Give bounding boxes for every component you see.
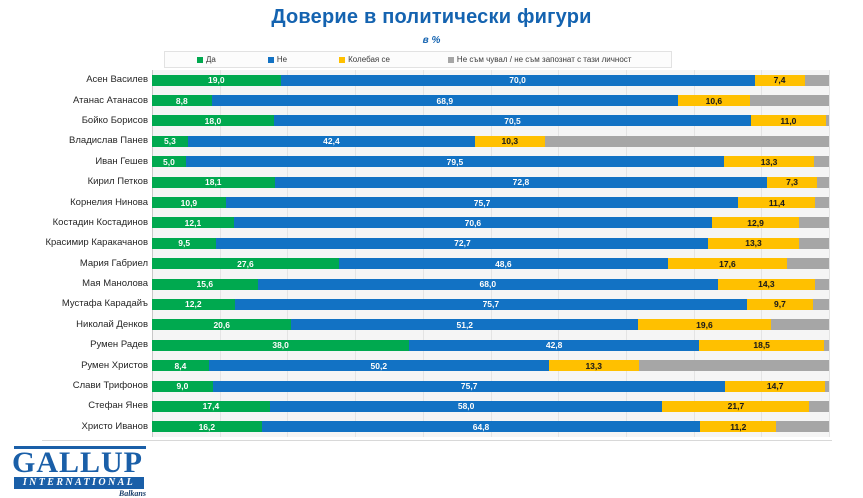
bar-value-label: 64,8 — [473, 422, 490, 432]
bar-segment: 20,6 — [152, 319, 291, 330]
bar-segment: 7,4 — [755, 75, 805, 86]
bar-value-label: 7,4 — [774, 75, 786, 85]
chart-legend: ДаНеКолебая сеНе съм чувал / не съм запо… — [164, 51, 672, 68]
bar-value-label: 18,5 — [753, 340, 770, 350]
bar-segment — [813, 299, 829, 310]
bar-row: 27,648,617,6 — [152, 258, 829, 269]
chart-subtitle: в % — [0, 35, 863, 46]
bar-segment: 68,9 — [212, 95, 678, 106]
bar-segment: 17,6 — [668, 258, 787, 269]
bar-value-label: 11,4 — [769, 198, 785, 208]
bar-row: 15,668,014,3 — [152, 279, 829, 290]
category-label: Кирил Петков — [3, 176, 148, 188]
bar-value-label: 7,3 — [786, 177, 798, 187]
category-label: Корнелия Нинова — [3, 197, 148, 209]
bar-segment: 70,0 — [281, 75, 755, 86]
bar-value-label: 5,3 — [164, 136, 176, 146]
bar-segment: 72,8 — [275, 177, 768, 188]
bar-value-label: 14,3 — [758, 279, 775, 289]
bar-segment: 13,3 — [708, 238, 798, 249]
bar-row: 5,342,410,3 — [152, 136, 829, 147]
category-label: Мая Манолова — [3, 278, 148, 290]
category-label: Иван Гешев — [3, 156, 148, 168]
bar-value-label: 9,7 — [774, 299, 786, 309]
category-label: Христо Иванов — [3, 421, 148, 433]
bar-segment: 8,4 — [152, 360, 209, 371]
bar-segment: 14,7 — [725, 381, 825, 392]
bar-value-label: 10,6 — [706, 96, 723, 106]
bar-segment — [825, 381, 829, 392]
logo-wordmark: GALLUP — [12, 448, 143, 478]
legend-item[interactable]: Не — [268, 55, 287, 64]
bar-segment: 48,6 — [339, 258, 668, 269]
category-label: Владислав Панев — [3, 135, 148, 147]
legend-item-label: Не — [277, 55, 287, 64]
bar-value-label: 9,0 — [177, 381, 189, 391]
bar-row: 10,975,711,4 — [152, 197, 829, 208]
bar-segment: 7,3 — [767, 177, 816, 188]
bar-segment: 51,2 — [291, 319, 638, 330]
bar-segment: 75,7 — [213, 381, 725, 392]
footer-divider — [42, 440, 832, 441]
bar-segment: 42,4 — [188, 136, 475, 147]
legend-item[interactable]: Не съм чувал / не съм запознат с тази ли… — [448, 55, 632, 64]
bar-segment — [824, 340, 829, 351]
bar-value-label: 17,4 — [203, 401, 220, 411]
category-label: Асен Василев — [3, 74, 148, 86]
category-label: Николай Денков — [3, 319, 148, 331]
category-label: Мустафа Карадайъ — [3, 298, 148, 310]
logo-international: INTERNATIONAL — [14, 477, 144, 489]
bar-segment — [639, 360, 829, 371]
bar-row: 12,275,79,7 — [152, 299, 829, 310]
bar-segment: 9,7 — [747, 299, 813, 310]
bar-row: 8,868,910,6 — [152, 95, 829, 106]
bar-segment — [799, 217, 829, 228]
bar-segment: 50,2 — [209, 360, 549, 371]
bar-row: 16,264,811,2 — [152, 421, 829, 432]
bar-value-label: 75,7 — [483, 299, 500, 309]
bar-segment: 18,0 — [152, 115, 274, 126]
bar-value-label: 13,3 — [761, 157, 778, 167]
bar-segment: 70,6 — [234, 217, 712, 228]
bar-segment: 13,3 — [549, 360, 639, 371]
bar-segment: 64,8 — [262, 421, 701, 432]
bar-row: 17,458,021,7 — [152, 401, 829, 412]
bar-segment — [817, 177, 829, 188]
bar-value-label: 75,7 — [461, 381, 478, 391]
bar-value-label: 10,3 — [502, 136, 519, 146]
bar-row: 18,070,511,0 — [152, 115, 829, 126]
bar-segment: 12,2 — [152, 299, 235, 310]
bar-segment: 75,7 — [235, 299, 747, 310]
bar-segment: 68,0 — [258, 279, 718, 290]
bar-value-label: 72,8 — [513, 177, 530, 187]
legend-square-green — [197, 57, 203, 63]
bar-segment — [776, 421, 829, 432]
bar-segment: 21,7 — [662, 401, 809, 412]
bar-row: 38,042,818,5 — [152, 340, 829, 351]
category-label: Костадин Костадинов — [3, 217, 148, 229]
bar-segment — [809, 401, 829, 412]
bar-segment: 72,7 — [216, 238, 708, 249]
bar-segment — [805, 75, 829, 86]
bar-segment: 79,5 — [186, 156, 724, 167]
bar-value-label: 70,6 — [465, 218, 482, 228]
bar-segment: 11,0 — [751, 115, 825, 126]
plot-area: 19,070,07,48,868,910,618,070,511,05,342,… — [152, 70, 829, 437]
bar-value-label: 21,7 — [728, 401, 745, 411]
bar-value-label: 68,0 — [480, 279, 497, 289]
bar-segment: 9,5 — [152, 238, 216, 249]
legend-item-label: Не съм чувал / не съм запознат с тази ли… — [457, 55, 632, 64]
bar-segment: 12,1 — [152, 217, 234, 228]
bar-row: 9,572,713,3 — [152, 238, 829, 249]
legend-square-grey — [448, 57, 454, 63]
bar-value-label: 42,8 — [546, 340, 563, 350]
bar-segment: 16,2 — [152, 421, 262, 432]
chart-title: Доверие в политически фигури — [0, 6, 863, 29]
bar-segment: 18,5 — [699, 340, 824, 351]
logo-balkans: Balkans — [10, 489, 146, 498]
category-label: Слави Трифонов — [3, 380, 148, 392]
bar-segment: 9,0 — [152, 381, 213, 392]
category-label: Атанас Атанасов — [3, 95, 148, 107]
bar-segment: 38,0 — [152, 340, 409, 351]
legend-square-yellow — [339, 57, 345, 63]
bar-value-label: 19,6 — [696, 320, 713, 330]
bar-segment: 19,0 — [152, 75, 281, 86]
legend-item-label: Да — [206, 55, 216, 64]
bar-value-label: 5,0 — [163, 157, 175, 167]
bar-segment: 42,8 — [409, 340, 699, 351]
bar-segment — [545, 136, 829, 147]
legend-item[interactable]: Колебая се — [339, 55, 390, 64]
bar-value-label: 20,6 — [213, 320, 230, 330]
bar-segment — [815, 279, 829, 290]
bar-value-label: 19,0 — [208, 75, 225, 85]
gallup-logo: GALLUP INTERNATIONAL Balkans — [10, 446, 160, 488]
bar-value-label: 18,1 — [205, 177, 222, 187]
bar-segment: 10,3 — [475, 136, 545, 147]
bar-segment — [750, 95, 829, 106]
bar-segment — [815, 197, 829, 208]
bar-value-label: 27,6 — [237, 259, 254, 269]
bar-segment: 11,2 — [700, 421, 776, 432]
category-label: Бойко Борисов — [3, 115, 148, 127]
bar-value-label: 48,6 — [495, 259, 512, 269]
category-label: Мария Габриел — [3, 258, 148, 270]
bar-value-label: 75,7 — [474, 198, 491, 208]
bar-value-label: 70,5 — [504, 116, 521, 126]
bar-value-label: 50,2 — [371, 361, 388, 371]
bar-value-label: 17,6 — [719, 259, 736, 269]
bar-value-label: 42,4 — [323, 136, 340, 146]
bar-segment: 27,6 — [152, 258, 339, 269]
bar-segment: 19,6 — [638, 319, 771, 330]
bar-value-label: 14,7 — [767, 381, 784, 391]
bar-value-label: 15,6 — [197, 279, 214, 289]
bar-row: 5,079,513,3 — [152, 156, 829, 167]
bar-row: 20,651,219,6 — [152, 319, 829, 330]
bar-value-label: 38,0 — [272, 340, 289, 350]
bar-segment: 12,9 — [712, 217, 799, 228]
legend-square-blue — [268, 57, 274, 63]
bar-segment — [799, 238, 829, 249]
bar-value-label: 11,2 — [730, 422, 746, 432]
bar-value-label: 11,0 — [780, 116, 796, 126]
category-label: Красимир Каракачанов — [3, 237, 148, 249]
bar-value-label: 72,7 — [454, 238, 471, 248]
bar-segment: 5,3 — [152, 136, 188, 147]
bar-segment: 17,4 — [152, 401, 270, 412]
bar-value-label: 8,8 — [176, 96, 188, 106]
bar-segment: 11,4 — [738, 197, 815, 208]
bar-row: 19,070,07,4 — [152, 75, 829, 86]
bar-value-label: 68,9 — [437, 96, 454, 106]
bar-segment: 75,7 — [226, 197, 738, 208]
bar-segment: 18,1 — [152, 177, 275, 188]
bar-value-label: 12,9 — [747, 218, 764, 228]
category-labels-column: Асен ВасилевАтанас АтанасовБойко Борисов… — [0, 70, 148, 437]
gridline — [829, 70, 830, 437]
bar-value-label: 8,4 — [175, 361, 187, 371]
bar-value-label: 12,2 — [185, 299, 202, 309]
bar-row: 12,170,612,9 — [152, 217, 829, 228]
legend-item[interactable]: Да — [197, 55, 216, 64]
bar-value-label: 9,5 — [178, 238, 190, 248]
bar-row: 8,450,213,3 — [152, 360, 829, 371]
bar-segment: 10,6 — [678, 95, 750, 106]
bar-value-label: 13,3 — [745, 238, 762, 248]
bar-value-label: 18,0 — [205, 116, 222, 126]
category-label: Румен Христов — [3, 360, 148, 372]
bar-value-label: 51,2 — [456, 320, 473, 330]
bar-segment: 15,6 — [152, 279, 258, 290]
bar-segment: 58,0 — [270, 401, 663, 412]
bar-value-label: 10,9 — [181, 198, 198, 208]
bar-value-label: 16,2 — [199, 422, 216, 432]
category-label: Стефан Янев — [3, 400, 148, 412]
bar-segment: 5,0 — [152, 156, 186, 167]
bar-row: 18,172,87,3 — [152, 177, 829, 188]
bar-segment — [771, 319, 829, 330]
bar-segment — [826, 115, 829, 126]
legend-item-label: Колебая се — [348, 55, 390, 64]
bar-segment: 10,9 — [152, 197, 226, 208]
bar-value-label: 58,0 — [458, 401, 475, 411]
bar-value-label: 12,1 — [185, 218, 202, 228]
bar-value-label: 79,5 — [447, 157, 464, 167]
category-label: Румен Радев — [3, 339, 148, 351]
bar-segment: 70,5 — [274, 115, 751, 126]
bar-segment: 8,8 — [152, 95, 212, 106]
bar-segment — [787, 258, 829, 269]
bar-value-label: 70,0 — [509, 75, 526, 85]
bar-segment: 14,3 — [718, 279, 815, 290]
bar-row: 9,075,714,7 — [152, 381, 829, 392]
bar-segment — [814, 156, 829, 167]
bar-value-label: 13,3 — [585, 361, 602, 371]
chart-container: Доверие в политически фигури в % ДаНеКол… — [0, 0, 863, 490]
bar-segment: 13,3 — [724, 156, 814, 167]
